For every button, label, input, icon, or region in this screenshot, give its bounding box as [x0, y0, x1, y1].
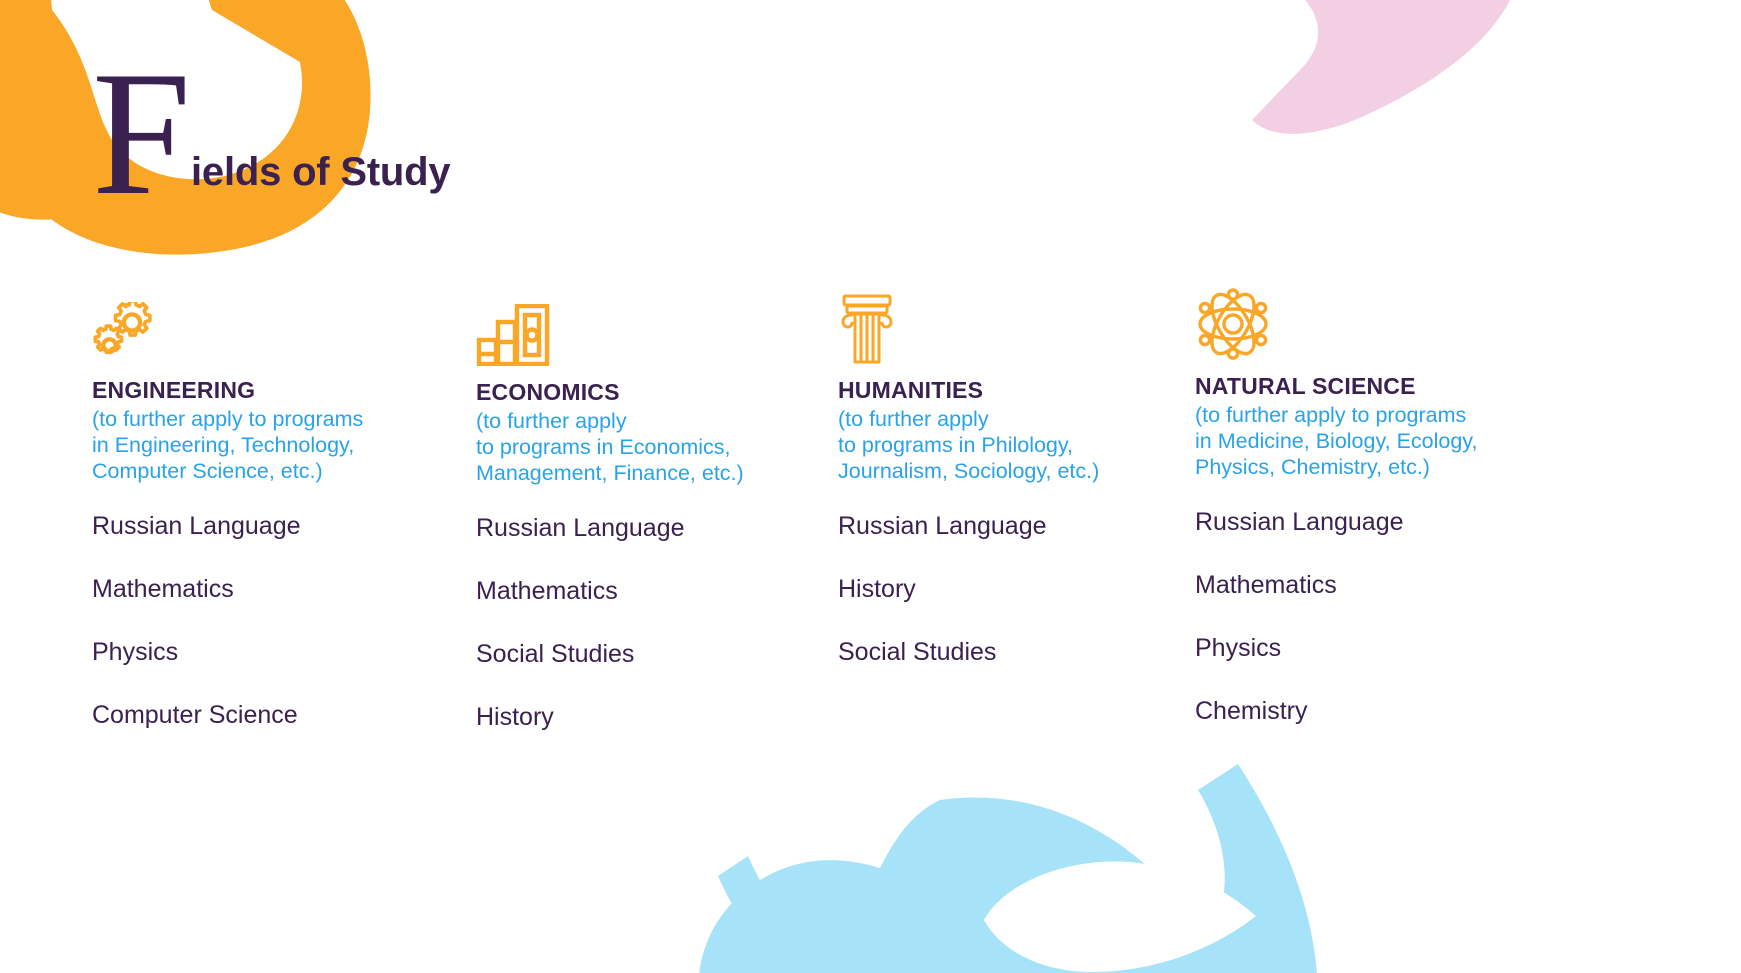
- list-item: Russian Language: [838, 514, 1158, 539]
- title-text: ields of Study: [191, 150, 450, 195]
- title-drop-cap: F: [92, 64, 189, 203]
- column-description-line: in Medicine, Biology, Ecology,: [1195, 428, 1535, 454]
- pink-blob-top-right: [1252, 0, 1520, 134]
- list-item: Physics: [92, 640, 422, 665]
- subject-list: Russian Language Mathematics Social Stud…: [476, 516, 806, 730]
- column-description-line: (to further apply: [838, 406, 1158, 432]
- column-icon-wrap: [476, 280, 806, 366]
- list-item: Chemistry: [1195, 699, 1535, 724]
- list-item: Mathematics: [1195, 573, 1535, 598]
- column-icon-wrap: [838, 278, 1158, 364]
- list-item: Mathematics: [92, 577, 422, 602]
- column-humanities: HUMANITIES (to further apply to programs…: [838, 278, 1158, 703]
- column-heading: ECONOMICS: [476, 380, 806, 405]
- list-item: History: [838, 577, 1158, 602]
- page-title: F ields of Study: [92, 64, 450, 203]
- bar-chart-icon: [476, 304, 550, 366]
- column-icon-wrap: [1195, 274, 1535, 360]
- column-description-line: (to further apply: [476, 408, 806, 434]
- column-description: (to further apply to programs in Enginee…: [92, 406, 422, 484]
- atom-icon: [1195, 288, 1271, 360]
- column-heading: NATURAL SCIENCE: [1195, 374, 1535, 399]
- column-description: (to further apply to programs in Medicin…: [1195, 402, 1535, 480]
- gears-icon: [92, 302, 172, 364]
- blue-blob-cutout: [984, 862, 1256, 972]
- column-engineering: ENGINEERING (to further apply to program…: [92, 278, 422, 766]
- list-item: Mathematics: [476, 579, 806, 604]
- list-item: History: [476, 705, 806, 730]
- column-icon-wrap: [92, 278, 422, 364]
- column-natural-science: NATURAL SCIENCE (to further apply to pro…: [1195, 274, 1535, 762]
- column-description-line: to programs in Philology,: [838, 432, 1158, 458]
- blue-blob-tail: [718, 856, 826, 972]
- page-header: F ields of Study: [0, 0, 700, 250]
- blue-blob-bottom-center: [698, 764, 1318, 973]
- column-heading: ENGINEERING: [92, 378, 422, 403]
- list-item: Russian Language: [1195, 510, 1535, 535]
- list-item: Russian Language: [92, 514, 422, 539]
- list-item: Computer Science: [92, 703, 422, 728]
- subject-list: Russian Language Mathematics Physics Che…: [1195, 510, 1535, 724]
- list-item: Social Studies: [838, 640, 1158, 665]
- column-heading: HUMANITIES: [838, 378, 1158, 403]
- column-description: (to further apply to programs in Economi…: [476, 408, 806, 486]
- column-economics: ECONOMICS (to further apply to programs …: [476, 280, 806, 768]
- column-description-line: in Engineering, Technology,: [92, 432, 422, 458]
- column-description-line: Physics, Chemistry, etc.): [1195, 454, 1535, 480]
- column-description-line: (to further apply to programs: [92, 406, 422, 432]
- column-description: (to further apply to programs in Philolo…: [838, 406, 1158, 484]
- column-description-line: Journalism, Sociology, etc.): [838, 458, 1158, 484]
- subject-list: Russian Language Mathematics Physics Com…: [92, 514, 422, 728]
- column-description-line: Computer Science, etc.): [92, 458, 422, 484]
- list-item: Physics: [1195, 636, 1535, 661]
- subject-list: Russian Language History Social Studies: [838, 514, 1158, 665]
- list-item: Social Studies: [476, 642, 806, 667]
- greek-column-icon: [838, 294, 896, 364]
- list-item: Russian Language: [476, 516, 806, 541]
- column-description-line: (to further apply to programs: [1195, 402, 1535, 428]
- column-description-line: Management, Finance, etc.): [476, 460, 806, 486]
- column-description-line: to programs in Economics,: [476, 434, 806, 460]
